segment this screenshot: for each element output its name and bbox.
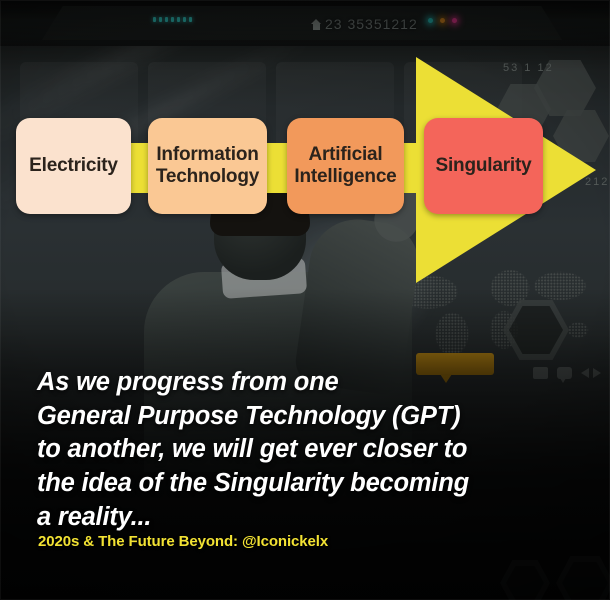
quote-line-2: General Purpose Technology (GPT) (37, 400, 582, 434)
byline-credit: 2020s & The Future Beyond: @Iconickelx (38, 533, 328, 550)
progression-diagram: Electricity Information Technology Artif… (0, 0, 610, 300)
stage-box-2[interactable]: Information Technology (148, 118, 267, 214)
stage-box-4[interactable]: Singularity (424, 118, 543, 214)
stage-4-label-line-1: Singularity (436, 155, 532, 177)
quote-line-3: to another, we will get ever closer to (37, 433, 582, 467)
stage-1-label-line-1: Electricity (29, 155, 118, 177)
stage-box-1[interactable]: Electricity (16, 118, 131, 214)
stage-2-label-line-2: Technology (156, 166, 259, 188)
quote-line-5: a reality... (37, 501, 582, 535)
quote-line-4: the idea of the Singularity becoming (37, 467, 582, 501)
stage-3-label-line-2: Intelligence (294, 166, 396, 188)
arrows-icon (581, 367, 601, 379)
quote-line-1: As we progress from one (37, 366, 582, 400)
stage-2-label-line-1: Information (156, 144, 259, 166)
stage-box-3[interactable]: Artificial Intelligence (287, 118, 404, 214)
infographic-image: 23 35351212 53 1 12 212 Electricity Info… (0, 0, 610, 600)
quote-text: As we progress from one General Purpose … (37, 366, 582, 534)
stage-3-label-line-1: Artificial (294, 144, 396, 166)
